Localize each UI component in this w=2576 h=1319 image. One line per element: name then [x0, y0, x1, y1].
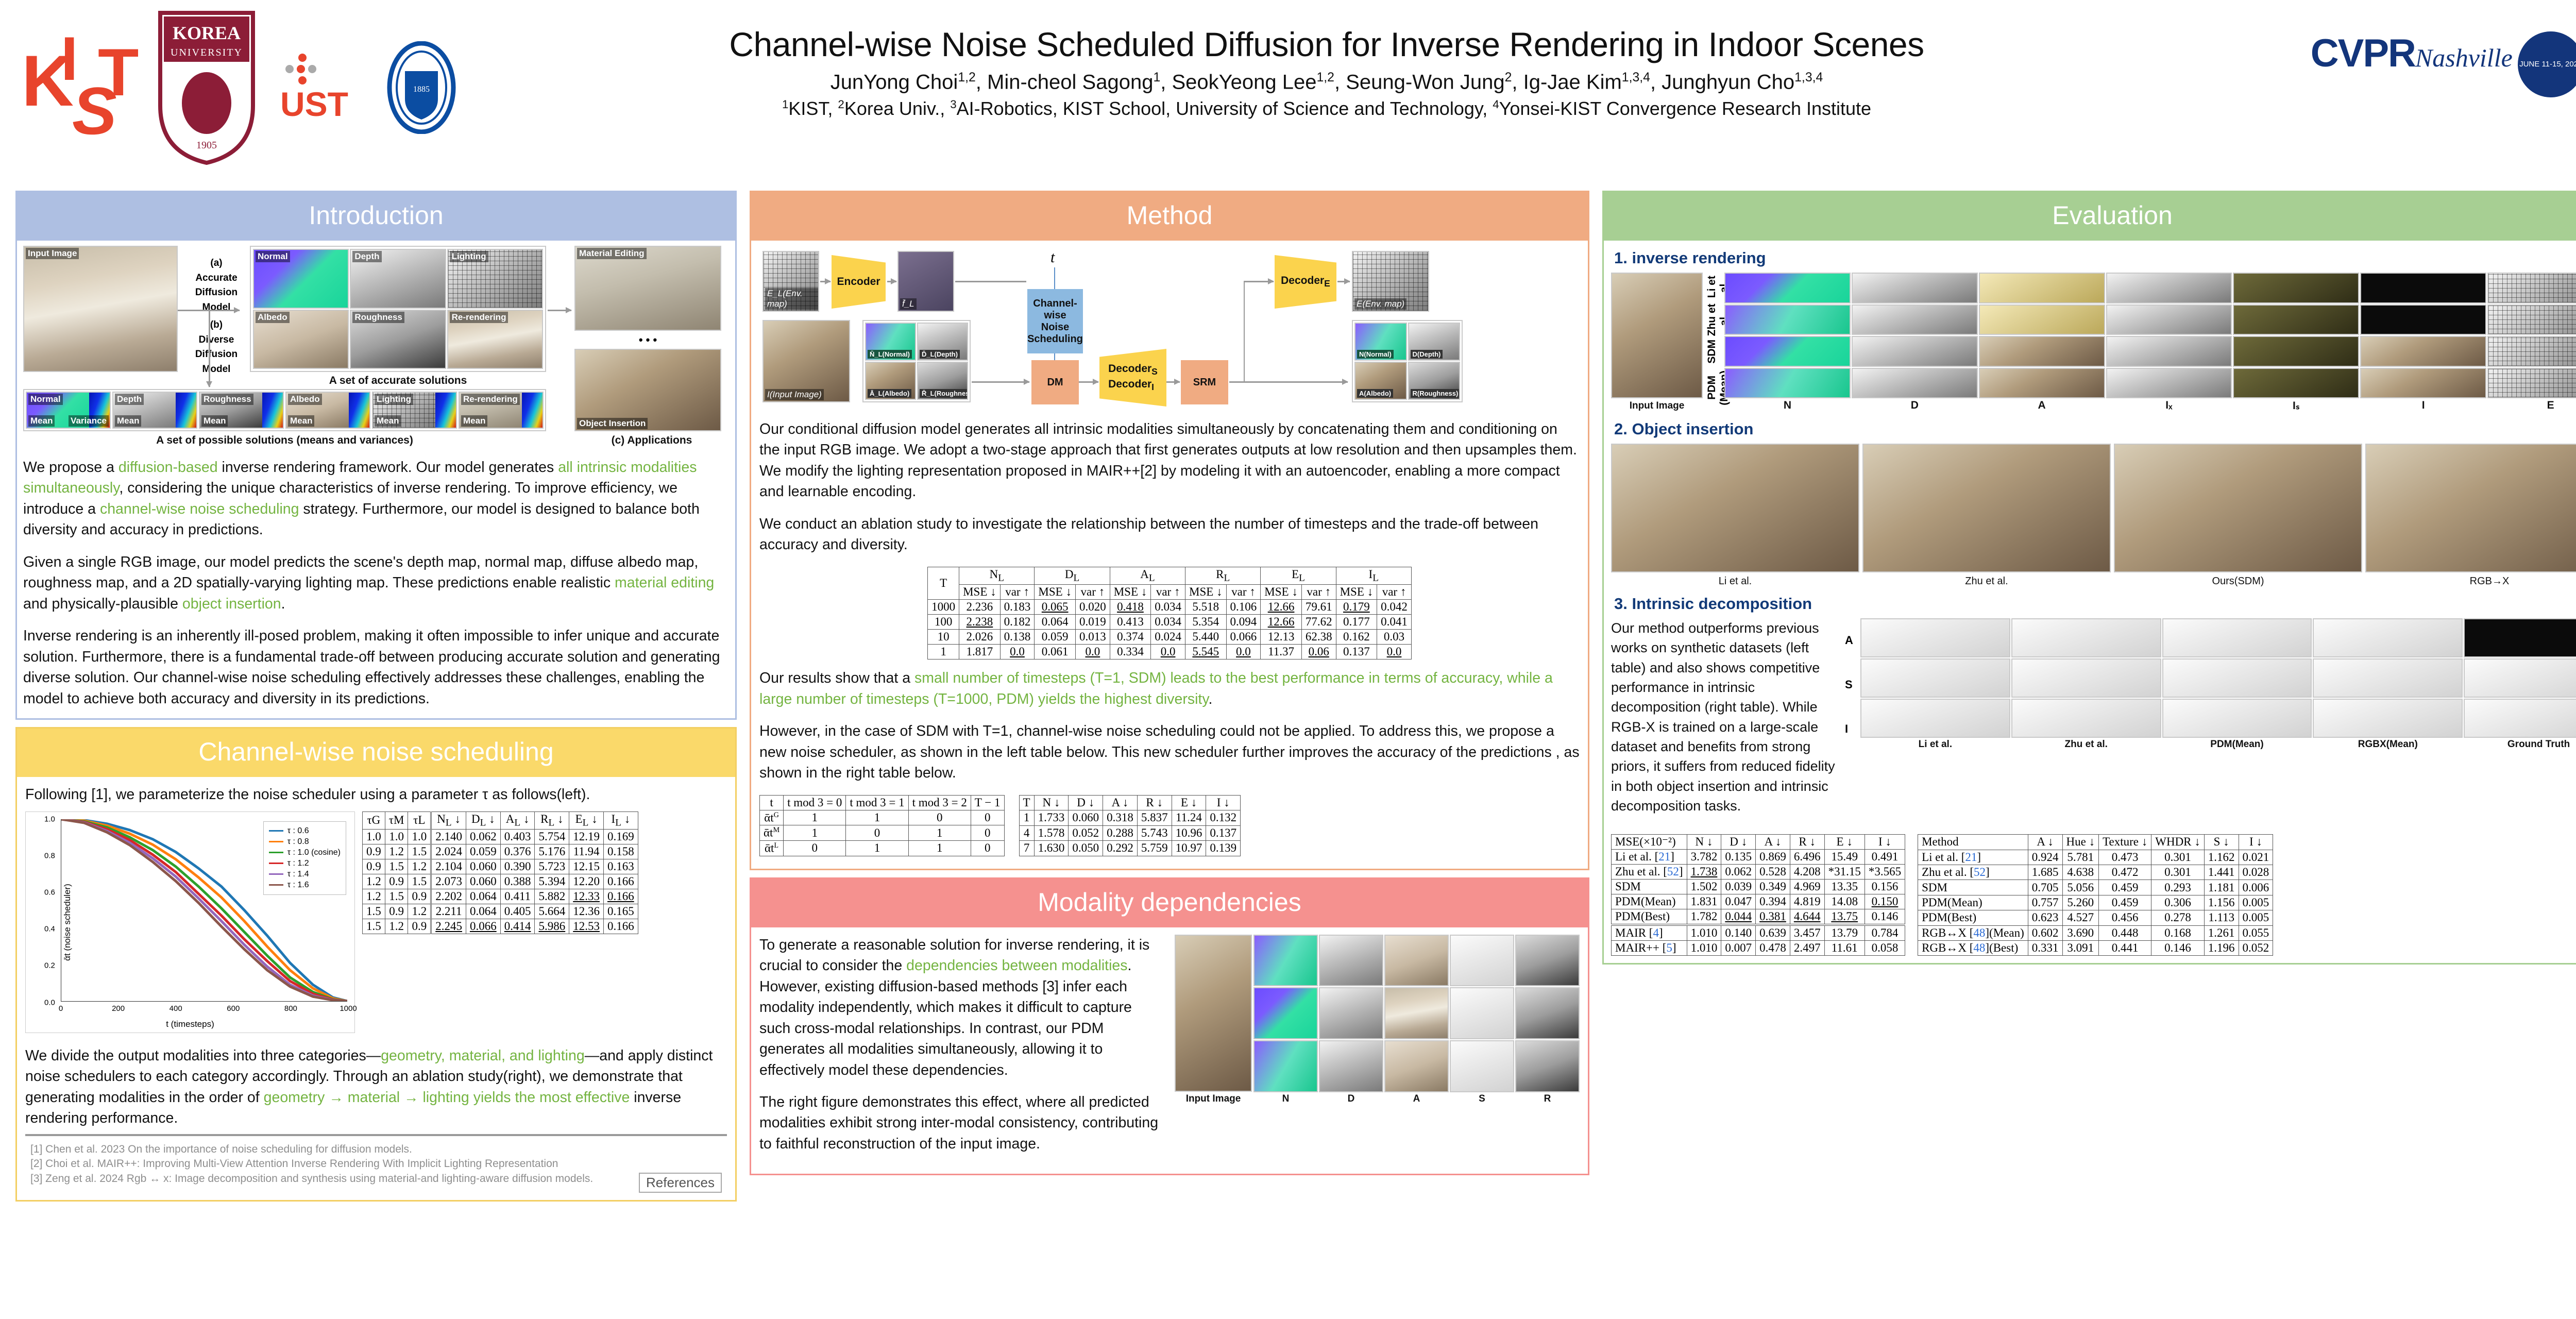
intro-arrow-to-apps — [548, 310, 571, 311]
modality-col-label: A — [1384, 1093, 1449, 1105]
modality-paragraph-2: The right figure demonstrates this effec… — [759, 1092, 1166, 1154]
timestep-ablation-table: TNLDLALRLELILMSE ↓var ↑MSE ↓var ↑MSE ↓va… — [927, 567, 1412, 660]
pipeline-tile-albedo-lr: Ā_L(Albedo) — [865, 362, 916, 400]
reference-item-2: [2] Choi et al. MAIR++: Improving Multi-… — [30, 1157, 722, 1172]
eval-id-cell — [2464, 699, 2576, 738]
arrow-to-decoder-e — [1244, 281, 1274, 282]
pipeline-feature-latent: f̄_L — [897, 251, 954, 312]
modality-input-image — [1175, 935, 1252, 1092]
svg-text:UST: UST — [280, 85, 348, 123]
chart-ytick: 0.4 — [44, 925, 55, 934]
table-row: PDM(Mean)0.7575.2600.4590.3061.1560.005 — [1918, 895, 2273, 910]
table-row: SDM1.5020.0390.3494.96913.350.156 — [1612, 880, 1905, 894]
intro-apps-caption: (c) Applications — [574, 434, 729, 447]
eval-id-cell — [1860, 699, 2010, 738]
table-row: Li et al. [21]0.9245.7810.4730.3011.1620… — [1918, 850, 2273, 865]
modality-col-label: N — [1253, 1093, 1318, 1105]
modality-cell — [1253, 935, 1318, 987]
evaluation-title: Evaluation — [1604, 192, 2576, 241]
title-block: Channel-wise Noise Scheduled Diffusion f… — [515, 26, 2138, 120]
modality-figure: Input Image — [1175, 935, 1580, 1166]
table-row: 41.5780.0520.2885.74310.960.137 — [1019, 825, 1241, 840]
eval-subhead-1: 1. inverse rendering — [1614, 249, 2576, 267]
arrow-srm-out — [1229, 381, 1348, 383]
inverse-rendering-figure: Input Image Li et al. Zhu et al. SDM PDM… — [1611, 273, 2576, 412]
evaluation-panel: Evaluation 1. inverse rendering Input Im… — [1602, 191, 2576, 965]
channel-wise-noise-scheduling-block: Channel-wiseNoiseScheduling — [1027, 289, 1083, 353]
method-result-paragraph: Our results show that a small number of … — [759, 668, 1580, 709]
eval-ir-col-label: N — [1724, 399, 1851, 412]
introduction-figure: Input Image (a) Accurate Diffusion Model… — [23, 246, 729, 431]
intrinsic-decomposition-figure: A S I — [1845, 618, 2576, 827]
eval-ir-col-label: E — [2487, 399, 2576, 412]
modality-col-label: S — [1450, 1093, 1514, 1105]
eval-id-cell — [2313, 699, 2463, 738]
eval-id-cell — [2162, 658, 2312, 698]
pipeline-tile-roughness-lr: R̄_L(Roughness) — [917, 362, 968, 400]
modality-cell — [1384, 935, 1449, 987]
tile-albedo: Albedo — [253, 310, 349, 369]
cvpr-wordmark: CVPR — [2311, 31, 2415, 76]
pipeline-tile-depth-lr: D̄_L(Depth) — [917, 323, 968, 361]
pipeline-envmap-in: E_L(Env. map) — [762, 251, 819, 312]
chart-ytick: 0.2 — [44, 961, 55, 970]
eval-id-cell — [2011, 618, 2161, 657]
references-label: References — [639, 1173, 722, 1193]
cvpr-logo: CVPRNashville JUNE 11-15, 2025 — [2303, 31, 2576, 97]
tile-roughness: Roughness — [350, 310, 446, 369]
legend-item: τ : 1.4 — [269, 870, 341, 879]
pipeline-tile-depth-hr: D(Depth) — [1408, 323, 1461, 361]
method-panel: Method E_L(Env. map) Encoder f̄_L I(Inpu… — [750, 191, 1589, 870]
table-row: 1002.2380.1820.0640.0190.4130.0345.3540.… — [928, 615, 1412, 630]
table-row: 11.7330.0600.3185.83711.240.132 — [1019, 810, 1241, 825]
tile-depth: Depth — [350, 249, 446, 309]
chart-xtick: 0 — [59, 1004, 63, 1013]
table-row: PDM(Best)1.7820.0440.3814.64413.750.146 — [1612, 909, 1905, 925]
modality-cell — [1319, 935, 1383, 987]
modality-cell — [1384, 987, 1449, 1039]
eval-intrinsic-text: Our method outperforms previous works on… — [1611, 618, 1838, 816]
eval-oi-cell — [1862, 444, 2111, 572]
table-row: MAIR++ [5]1.0100.0070.4782.49711.610.058 — [1612, 941, 1905, 956]
decoder-si-block: DecoderSDecoderI — [1099, 349, 1166, 407]
eval-ir-col-label: Iₛ — [2233, 399, 2359, 412]
eval-id-cell — [2162, 618, 2312, 657]
chart-xlabel: t (timesteps) — [26, 1019, 354, 1029]
intro-arrow-to-b — [209, 310, 210, 387]
eval-ir-cell — [2106, 273, 2232, 303]
eval-id-cell — [1860, 658, 2010, 698]
eval-id-cell — [2011, 658, 2161, 698]
noise-scheduling-title: Channel-wise noise scheduling — [17, 729, 735, 777]
eval-ir-cell — [1724, 305, 1851, 335]
pipeline-input-image: I(Input Image) — [762, 320, 850, 402]
eval-oi-label: Li et al. — [1611, 576, 1859, 587]
intro-input-label: Input Image — [26, 248, 79, 259]
table-row: PDM(Mean)1.8310.0470.3944.81914.080.150 — [1612, 894, 1905, 909]
eval-oi-label: RGB→X — [2365, 576, 2576, 587]
intro-paragraph-2: Given a single RGB image, our model pred… — [23, 552, 729, 614]
srm-block: SRM — [1181, 360, 1228, 404]
method-paragraph-3: However, in the case of SDM with T=1, ch… — [759, 721, 1580, 783]
table-row: 10002.2360.1830.0650.0200.4180.0345.5180… — [928, 600, 1412, 615]
eval-ir-cell — [1852, 273, 1978, 303]
chart-ytick: 1.0 — [44, 815, 55, 823]
diverse-rerender: Re-rendering Mean — [459, 392, 544, 429]
legend-item: τ : 1.2 — [269, 859, 341, 868]
eval-oi-cell — [1611, 444, 1859, 572]
eval-id-row-label: S — [1845, 678, 1858, 691]
eval-id-cell — [2011, 699, 2161, 738]
pipeline-low-res-modalities: N̄_L(Normal) D̄_L(Depth) Ā_L(Albedo) R̄_… — [862, 320, 971, 402]
noise-sched-lead: Following [1], we parameterize the noise… — [25, 784, 727, 805]
eval-ir-cell — [2360, 368, 2486, 399]
korea-university-logo: KOREA UNIVERSITY 1905 — [152, 10, 261, 165]
diverse-roughness: Roughness Mean — [199, 392, 284, 429]
diverse-depth: Depth Mean — [112, 392, 197, 429]
eval-id-col-label: PDM(Mean) — [2162, 739, 2312, 751]
encoder-block: Encoder — [832, 255, 886, 309]
modality-title: Modality dependencies — [751, 879, 1588, 927]
arrow-dm-decoder — [1079, 381, 1098, 383]
modality-col-label: R — [1515, 1093, 1580, 1105]
intro-object-insertion: Object Insertion — [574, 349, 721, 431]
table-row: MAIR [4]1.0100.1400.6393.45713.790.784 — [1612, 925, 1905, 941]
object-insertion-figure: Li et al. Zhu et al. Ours(SDM) RGB→X — [1611, 444, 2576, 587]
intro-material-editing: Material Editing — [574, 246, 721, 331]
eval-ir-cell — [2487, 305, 2576, 335]
chart-xtick: 800 — [284, 1004, 297, 1013]
pipeline-tile-albedo-hr: A(Albedo) — [1354, 362, 1407, 400]
eval-ir-cell — [2360, 336, 2486, 367]
eval-id-row-label: I — [1845, 722, 1858, 736]
arrow-env-encoder — [820, 281, 831, 282]
intro-paragraph-1: We propose a diffusion-based inverse ren… — [23, 457, 729, 540]
table-row: 1.20.91.52.0730.0600.3885.39412.200.166 — [363, 874, 638, 889]
arrow-lr-dm — [972, 381, 1029, 383]
legend-item: τ : 1.0 (cosine) — [269, 848, 341, 857]
modality-cell — [1515, 987, 1580, 1039]
modality-paragraph-1: To generate a reasonable solution for in… — [759, 935, 1166, 1080]
intro-ellipsis: • • • — [574, 333, 721, 347]
intro-branch-b-label: (b) Diverse Diffusion Model — [188, 318, 245, 377]
eval-id-col-label: Zhu et al. — [2011, 739, 2161, 751]
table-row: Zhu et al. [52]1.7380.0620.5284.208*31.1… — [1612, 865, 1905, 880]
legend-item: τ : 1.6 — [269, 881, 341, 890]
intro-accurate-set: Normal Depth Lighting Albedo Roughness R… — [250, 246, 546, 372]
svg-text:1885: 1885 — [413, 85, 430, 94]
eval-oi-cell — [2114, 444, 2362, 572]
arrow-decoder-e-env — [1337, 281, 1350, 282]
kist-logo: K I S T — [21, 18, 139, 157]
eval-id-row-label: A — [1845, 634, 1858, 647]
legend-item: τ : 0.6 — [269, 826, 341, 836]
tile-normal: Normal — [253, 249, 349, 309]
eval-oi-label: Zhu et al. — [1862, 576, 2111, 587]
eval-row-label: Li et al. — [1706, 273, 1721, 301]
modality-cell — [1450, 1040, 1514, 1092]
tile-rerender: Re-rendering — [447, 310, 543, 369]
cvpr-date-badge: JUNE 11-15, 2025 — [2518, 31, 2576, 97]
intro-input-image: Input Image — [23, 246, 178, 372]
references-box: [1] Chen et al. 2023 On the importance o… — [25, 1134, 727, 1192]
modality-cell — [1515, 1040, 1580, 1092]
eval-ir-cell — [1724, 336, 1851, 367]
pipeline-tile-roughness-hr: R(Roughness) — [1408, 362, 1461, 400]
table-row: 11.8170.00.0610.00.3340.05.5450.011.370.… — [928, 645, 1412, 659]
diverse-lighting: Lighting Mean — [372, 392, 457, 429]
eval-ir-cell — [2106, 368, 2232, 399]
pipeline-t-arrow — [1054, 267, 1055, 289]
eval-ir-cell — [2106, 336, 2232, 367]
intro-branch-a-label: (a) Accurate Diffusion Model — [188, 256, 245, 315]
table-row: 1.51.20.92.2450.0660.4145.98612.530.166 — [363, 919, 638, 934]
modality-cell — [1253, 1040, 1318, 1092]
new-scheduler-result-table: TN ↓D ↓A ↓R ↓E ↓I ↓11.7330.0600.3185.837… — [1019, 795, 1241, 856]
table-row: ᾱtG1100 — [760, 810, 1005, 825]
intro-diverse-set: Normal Mean Variance Depth Mean — [23, 389, 546, 431]
eval-ir-col-label: Iₓ — [2106, 399, 2232, 412]
arrow-latent-cns — [955, 281, 1026, 282]
eval-ir-cell — [2233, 305, 2359, 335]
table-row: ᾱtM1010 — [760, 825, 1005, 841]
modality-cell — [1319, 1040, 1383, 1092]
modality-cell — [1319, 987, 1383, 1039]
arrow-srm-decoder-e — [1244, 281, 1245, 382]
svg-text:UNIVERSITY: UNIVERSITY — [171, 47, 243, 58]
table-row: SDM0.7055.0560.4590.2931.1810.006 — [1918, 880, 2273, 895]
eval-oi-cell — [2365, 444, 2576, 572]
table-row: 1.50.91.22.2110.0640.4055.66412.360.165 — [363, 904, 638, 919]
legend-item: τ : 0.8 — [269, 837, 341, 847]
ust-logo: UST — [274, 52, 362, 124]
logo-strip: K I S T KOREA UNIVERSITY 1905 — [21, 10, 468, 165]
middle-column: Method E_L(Env. map) Encoder f̄_L I(Inpu… — [750, 191, 1589, 1182]
eval-ir-cell — [1724, 368, 1851, 399]
svg-text:1905: 1905 — [196, 140, 217, 151]
chart-xtick: 200 — [112, 1004, 125, 1013]
modality-cell — [1384, 1040, 1449, 1092]
eval-ir-input — [1611, 273, 1703, 398]
eval-id-cell — [2464, 658, 2576, 698]
eval-id-cell — [1860, 618, 2010, 657]
pipeline-envmap-out: E(Env. map) — [1352, 251, 1429, 312]
eval-ir-cell — [1979, 273, 2105, 303]
intro-accurate-caption: A set of accurate solutions — [250, 375, 546, 387]
eval-id-cell — [2162, 699, 2312, 738]
eval-ir-col-label: D — [1852, 399, 1978, 412]
affiliation-list: 1KIST, 2Korea Univ., 3AI-Robotics, KIST … — [515, 98, 2138, 120]
method-paragraph-2: We conduct an ablation study to investig… — [759, 514, 1580, 555]
chart-ytick: 0.8 — [44, 851, 55, 860]
noise-sched-paragraph: We divide the output modalities into thr… — [25, 1045, 727, 1129]
tau-ablation-table: τGτMτLNL ↓DL ↓AL ↓RL ↓EL ↓IL ↓1.01.01.02… — [362, 811, 638, 935]
eval-row-label: PDM (Mean) — [1706, 364, 1721, 412]
modality-cell — [1515, 935, 1580, 987]
synthetic-results-table: MSE(×10⁻²)N ↓D ↓A ↓R ↓E ↓I ↓Li et al. [2… — [1611, 834, 1905, 956]
eval-row-label: SDM — [1706, 340, 1721, 364]
table-row: Li et al. [21]3.7820.1350.8696.49615.490… — [1612, 850, 1905, 865]
eval-subhead-3: 3. Intrinsic decomposition — [1614, 595, 2576, 613]
table-row: 1.21.50.92.2020.0640.4115.88212.330.166 — [363, 889, 638, 904]
reference-item-1: [1] Chen et al. 2023 On the importance o… — [30, 1142, 722, 1157]
table-row: RGB↔X [48](Mean)0.6023.6900.4480.1681.26… — [1918, 925, 2273, 940]
diverse-normal: Normal Mean Variance — [26, 392, 111, 429]
eval-ir-cell — [1979, 336, 2105, 367]
chart-ytick: 0.6 — [44, 888, 55, 897]
chart-xtick: 400 — [170, 1004, 182, 1013]
chart-ytick: 0.0 — [44, 998, 55, 1007]
eval-ir-cell — [2106, 305, 2232, 335]
eval-ir-col-label: I — [2360, 399, 2486, 412]
left-column: Introduction Input Image (a) Accurate Di… — [15, 191, 737, 1209]
intro-paragraph-3: Inverse rendering is an inherently ill-p… — [23, 625, 729, 709]
eval-ir-cell — [2487, 336, 2576, 367]
method-title: Method — [751, 192, 1588, 241]
eval-ir-col-label: A — [1979, 399, 2105, 412]
table-row: 102.0260.1380.0590.0130.3740.0245.4400.0… — [928, 630, 1412, 645]
modality-cell — [1450, 987, 1514, 1039]
pipeline-hr-modalities: N(Normal) D(Depth) A(Albedo) R(Roughness… — [1352, 320, 1463, 402]
eval-ir-cell — [2360, 305, 2486, 335]
pipeline-tile-normal-lr: N̄_L(Normal) — [865, 323, 916, 361]
eval-row-label: Zhu et al. — [1706, 302, 1721, 338]
eval-ir-cell — [2487, 368, 2576, 399]
pipeline-tile-normal-hr: N(Normal) — [1354, 323, 1407, 361]
table-row: ᾱtL0110 — [760, 841, 1005, 856]
noise-scheduler-chart: ᾱt (noise scheduler) t (timesteps) 0.00… — [25, 811, 355, 1033]
modality-panel: Modality dependencies To generate a reas… — [750, 877, 1589, 1176]
right-column: Evaluation 1. inverse rendering Input Im… — [1602, 191, 2576, 972]
table-row: 0.91.51.22.1040.0600.3905.72312.150.163 — [363, 859, 638, 874]
arrow-decoder-srm — [1166, 381, 1180, 383]
tile-lighting: Lighting — [447, 249, 543, 309]
chart-xtick: 1000 — [340, 1004, 357, 1013]
eval-ir-cell — [1852, 368, 1978, 399]
eval-ir-cell — [2233, 273, 2359, 303]
eval-ir-cell — [2233, 336, 2359, 367]
eval-id-col-label: RGBX(Mean) — [2313, 739, 2463, 751]
dm-block: DM — [1031, 360, 1079, 404]
method-paragraph-1: Our conditional diffusion model generate… — [759, 419, 1580, 502]
arrow-encoder-latent — [887, 281, 896, 282]
eval-oi-label: Ours(SDM) — [2114, 576, 2362, 587]
author-list: JunYong Choi1,2, Min-cheol Sagong1, Seok… — [515, 71, 2138, 94]
table-row: RGB↔X [48](Best)0.3313.0910.4410.1461.19… — [1918, 940, 2273, 955]
cvpr-city: Nashville — [2415, 43, 2513, 72]
eval-ir-cell — [2487, 273, 2576, 303]
table-row: 71.6300.0500.2925.75910.970.139 — [1019, 841, 1241, 856]
noise-scheduling-panel: Channel-wise noise scheduling Following … — [15, 727, 737, 1202]
eval-id-cell — [2313, 658, 2463, 698]
chart-legend: τ : 0.6τ : 0.8τ : 1.0 (cosine)τ : 1.2τ :… — [263, 821, 346, 895]
eval-id-col-label: Ground Truth — [2464, 739, 2576, 751]
eval-id-col-label: Li et al. — [1860, 739, 2010, 751]
diverse-albedo: Albedo Mean — [285, 392, 370, 429]
eval-subhead-2: 2. Object insertion — [1614, 420, 2576, 438]
introduction-panel: Introduction Input Image (a) Accurate Di… — [15, 191, 737, 720]
modality-cell — [1253, 987, 1318, 1039]
introduction-title: Introduction — [17, 192, 735, 241]
eval-ir-cell — [2233, 368, 2359, 399]
table-row: 1.01.01.02.1400.0620.4035.75412.190.169 — [363, 830, 638, 844]
svg-text:T: T — [98, 35, 139, 110]
modality-col-label: D — [1319, 1093, 1383, 1105]
poster-root: K I S T KOREA UNIVERSITY 1905 — [0, 0, 2576, 1319]
modality-input-label: Input Image — [1175, 1093, 1252, 1105]
eval-ir-cell — [2360, 273, 2486, 303]
eval-ir-cell — [1852, 336, 1978, 367]
pipeline-timestep-label: t — [1050, 249, 1055, 266]
eval-ir-cell — [1852, 305, 1978, 335]
intro-diverse-caption: A set of possible solutions (means and v… — [23, 434, 546, 447]
table-row: Zhu et al. [52]1.6854.6380.4720.3011.441… — [1918, 865, 2273, 880]
intrinsic-results-table: MethodA ↓Hue ↓Texture ↓WHDR ↓S ↓I ↓Li et… — [1918, 834, 2273, 956]
eval-ir-input-label: Input Image — [1611, 400, 1703, 412]
svg-text:KOREA: KOREA — [173, 23, 241, 43]
reference-item-3: [3] Zeng et al. 2024 Rgb ↔ x: Image deco… — [30, 1172, 722, 1187]
table-row: 0.91.21.52.0240.0590.3765.17611.940.158 — [363, 844, 638, 859]
chart-xtick: 600 — [227, 1004, 240, 1013]
new-noise-scheduler-table: tt mod 3 = 0t mod 3 = 1t mod 3 = 2T − 1α… — [759, 795, 1005, 856]
poster-header: K I S T KOREA UNIVERSITY 1905 — [0, 0, 2576, 185]
eval-ir-cell — [1979, 305, 2105, 335]
eval-id-cell — [2464, 618, 2576, 657]
table-row: PDM(Best)0.6234.5270.4560.2781.1130.005 — [1918, 910, 2273, 925]
decoder-e-block: DecoderE — [1275, 255, 1336, 309]
eval-id-cell — [2313, 618, 2463, 657]
modality-cell — [1450, 935, 1514, 987]
eval-ir-cell — [1979, 368, 2105, 399]
page-title: Channel-wise Noise Scheduled Diffusion f… — [515, 26, 2138, 63]
method-pipeline-diagram: E_L(Env. map) Encoder f̄_L I(Input Image… — [759, 248, 1580, 408]
eval-ir-cell — [1724, 273, 1851, 303]
yonsei-university-logo: 1885 — [375, 41, 468, 134]
